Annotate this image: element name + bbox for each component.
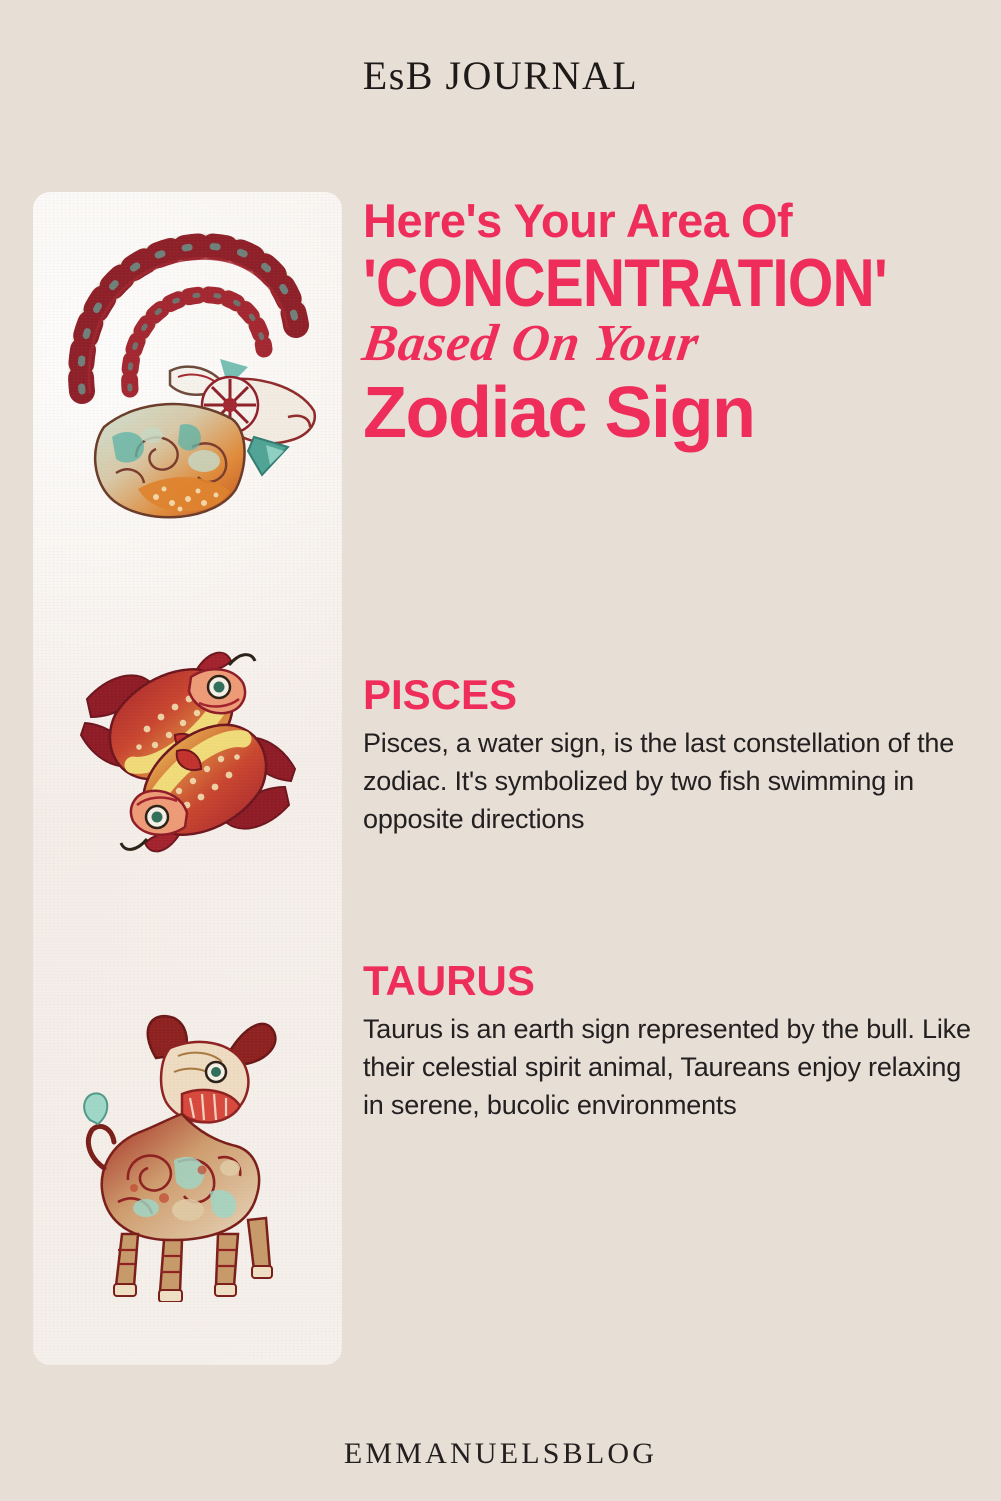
sign-description-taurus: Taurus is an earth sign represented by t… xyxy=(363,1010,981,1124)
content-column: Here's Your Area Of 'CONCENTRATION' Base… xyxy=(363,0,981,1501)
sign-title-pisces: PISCES xyxy=(363,672,981,718)
headline-emphasis: 'CONCENTRATION' xyxy=(363,252,894,314)
sign-section-pisces: PISCES Pisces, a water sign, is the last… xyxy=(363,672,981,838)
capricorn-goat-illustration xyxy=(33,206,342,536)
sign-title-taurus: TAURUS xyxy=(363,958,981,1004)
pisces-fish-illustration xyxy=(33,592,342,912)
footer-brand: EMMANUELSBLOG xyxy=(0,1437,1001,1471)
headline-block: Here's Your Area Of 'CONCENTRATION' Base… xyxy=(363,196,981,452)
sign-description-pisces: Pisces, a water sign, is the last conste… xyxy=(363,724,981,838)
headline-script: Based On Your xyxy=(359,316,985,372)
poster-canvas: EsB JOURNAL xyxy=(0,0,1001,1501)
taurus-bull-illustration xyxy=(33,992,342,1312)
headline-kicker: Here's Your Area Of xyxy=(363,196,981,246)
headline-main: Zodiac Sign xyxy=(363,374,981,452)
illustration-panel xyxy=(33,192,342,1365)
sign-section-taurus: TAURUS Taurus is an earth sign represent… xyxy=(363,958,981,1124)
